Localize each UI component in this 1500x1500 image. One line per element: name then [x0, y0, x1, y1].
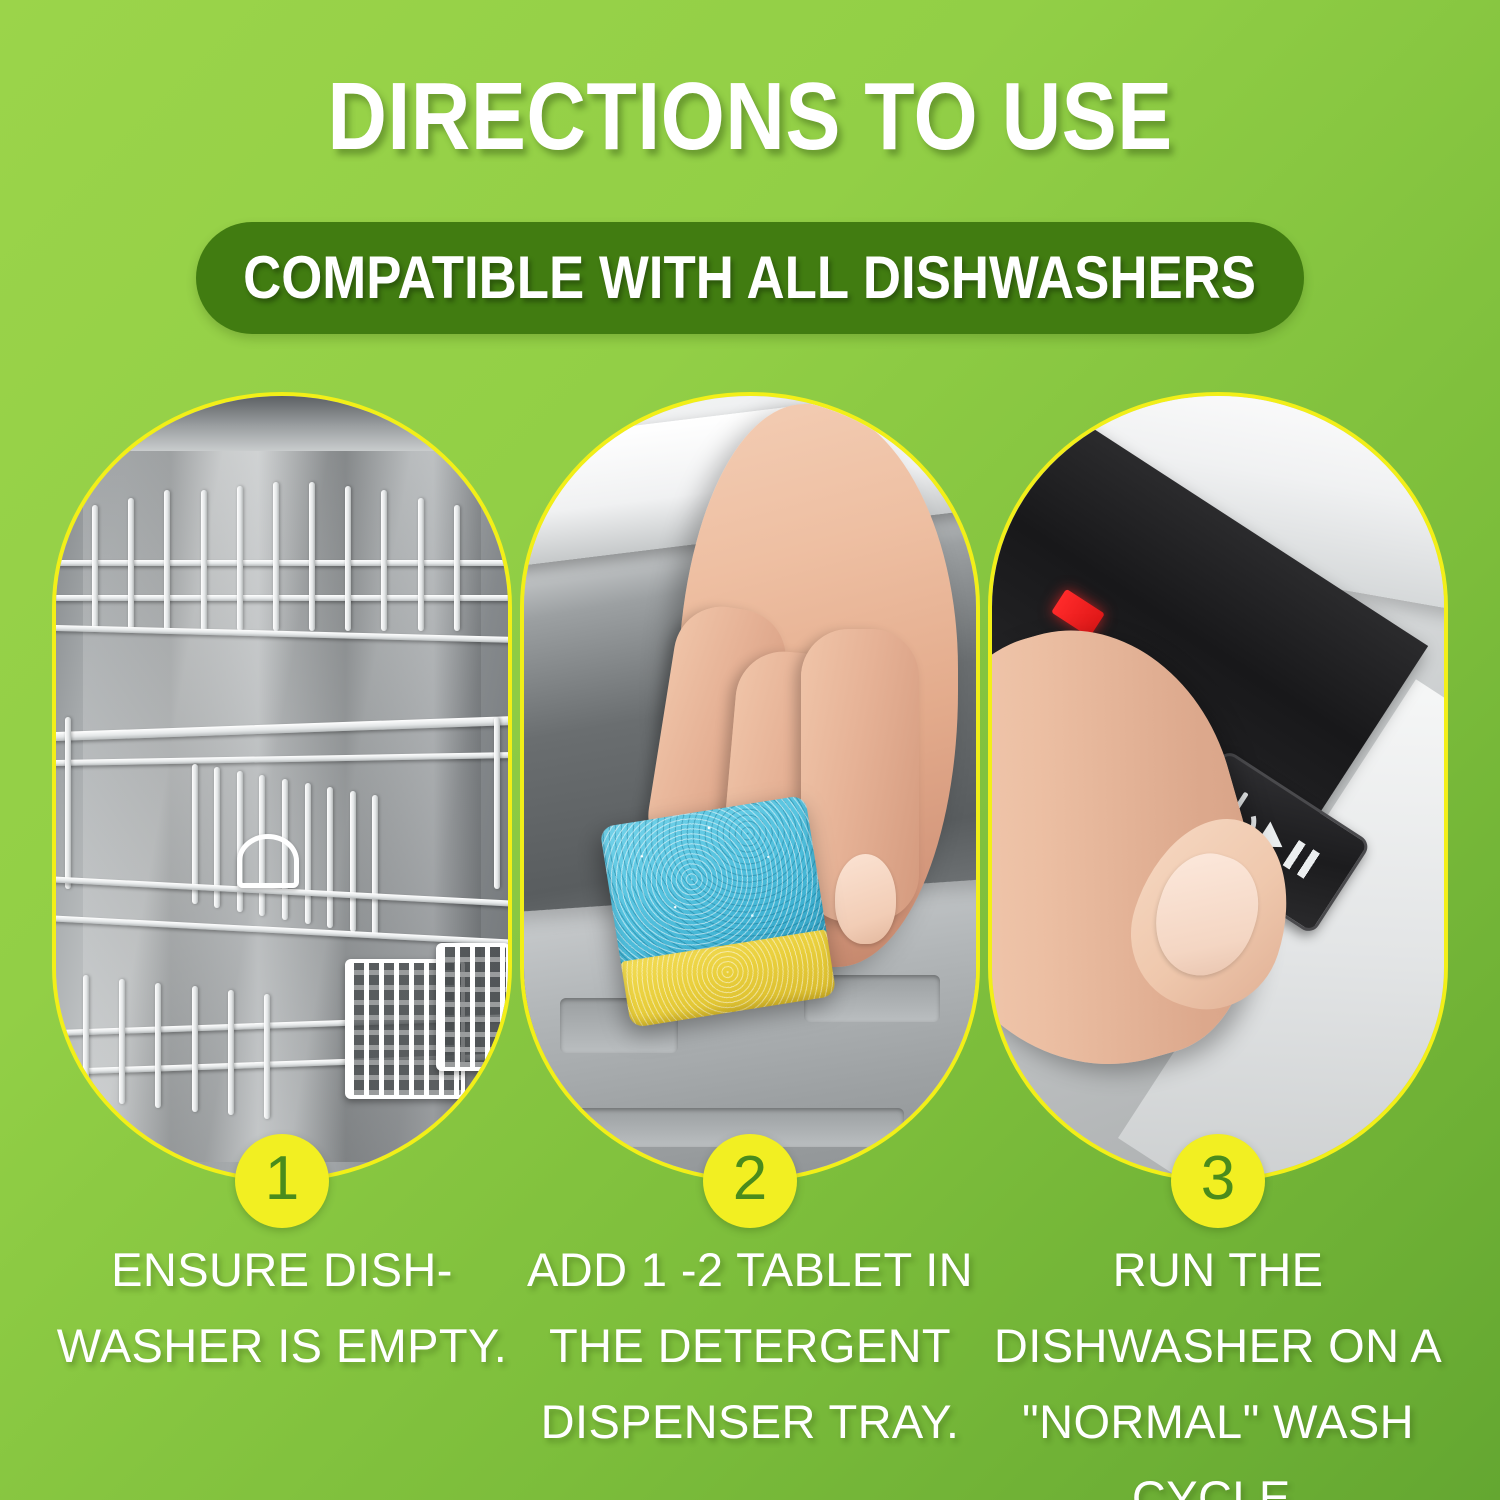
- step-caption-2: ADD 1 -2 TABLET IN THE DETERGENT DISPENS…: [502, 1232, 998, 1460]
- compatibility-banner: COMPATIBLE WITH ALL DISHWASHERS: [196, 222, 1304, 334]
- compatibility-banner-label: COMPATIBLE WITH ALL DISHWASHERS: [244, 246, 1257, 310]
- step-caption-3: RUN THE DISHWASHER ON A "NORMAL" WASH CY…: [970, 1232, 1466, 1500]
- step-badge-2: 2: [703, 1134, 797, 1228]
- step-caption-1: ENSURE DISH-WASHER IS EMPTY.: [34, 1232, 530, 1384]
- step-badge-3: 3: [1171, 1134, 1265, 1228]
- step-item-3: 3 RUN THE DISHWASHER ON A "NORMAL" WASH …: [988, 392, 1448, 1182]
- step-number: 1: [265, 1148, 299, 1210]
- detergent-tablet: [600, 795, 837, 1028]
- step-number: 3: [1201, 1148, 1235, 1210]
- step-number: 2: [733, 1148, 767, 1210]
- step-item-1: 1 ENSURE DISH-WASHER IS EMPTY.: [52, 392, 512, 1182]
- steps-row: 1 ENSURE DISH-WASHER IS EMPTY.: [0, 392, 1500, 1492]
- step-item-2: 2 ADD 1 -2 TABLET IN THE DETERGENT DISPE…: [520, 392, 980, 1182]
- page-title: DIRECTIONS TO USE: [105, 62, 1395, 172]
- pause-icon: [1282, 840, 1320, 879]
- tablet-in-dispenser-photo: [520, 392, 980, 1182]
- pressing-start-button-photo: [988, 392, 1448, 1182]
- step-badge-1: 1: [235, 1134, 329, 1228]
- directions-to-use-infographic: DIRECTIONS TO USE COMPATIBLE WITH ALL DI…: [0, 0, 1500, 1500]
- dishwasher-interior-photo: [52, 392, 512, 1182]
